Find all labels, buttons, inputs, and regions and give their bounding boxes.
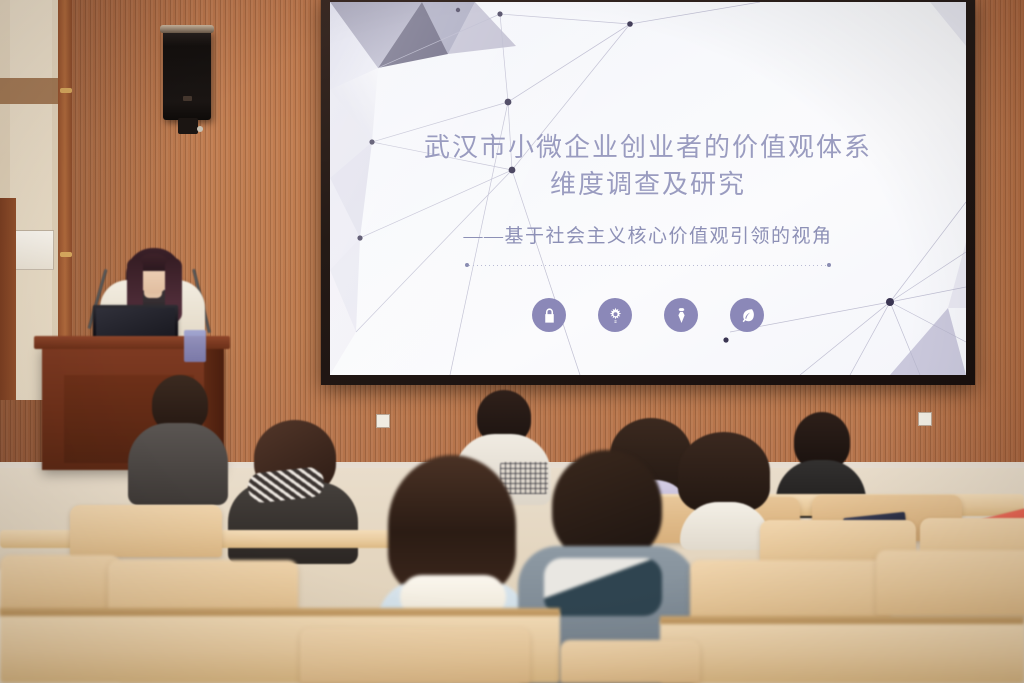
speaker-top-cap <box>160 25 214 33</box>
door-handle-lower[interactable] <box>60 252 72 257</box>
seat-front-6 <box>560 640 700 683</box>
door-panel <box>0 198 16 400</box>
divider-dot-right <box>827 263 831 267</box>
seat-front-4 <box>876 550 1024 616</box>
seat-middle-1 <box>70 505 222 557</box>
lock-badge-icon <box>532 298 566 332</box>
wall-panel-band <box>0 78 62 104</box>
divider-line <box>469 265 827 266</box>
desk-row-front-right <box>660 620 1024 683</box>
wall-outlet-left <box>376 414 390 428</box>
audience-1-body <box>128 423 228 505</box>
audience-4-scarf <box>544 558 662 616</box>
wall-outlet-right <box>918 412 932 426</box>
seat-front-5 <box>300 628 530 683</box>
slide-subtitle: ——基于社会主义核心价值观引领的视角 <box>330 221 966 248</box>
desk-edge-front-right <box>660 616 1024 624</box>
speaker-mount-screw <box>197 126 203 132</box>
necktie-icon <box>664 298 698 332</box>
slide-title-line-2: 维度调查及研究 <box>330 167 966 204</box>
slide-title-line-1: 武汉市小微企业创业者的价值观体系 <box>330 130 966 167</box>
lecture-hall-photo: 武汉市小微企业创业者的价值观体系 维度调查及研究 ——基于社会主义核心价值观引领… <box>0 0 1024 683</box>
lightbulb-icon <box>598 298 632 332</box>
audience-person-1 <box>128 375 228 505</box>
door-handle-upper[interactable] <box>60 88 72 93</box>
projection-screen-bezel: 武汉市小微企业创业者的价值观体系 维度调查及研究 ——基于社会主义核心价值观引领… <box>321 0 975 385</box>
speaker-badge <box>183 96 192 101</box>
growth-leaf-icon <box>730 298 764 332</box>
slide-icon-row <box>330 298 966 332</box>
slide-divider <box>465 264 831 267</box>
slide-text-block: 武汉市小微企业创业者的价值观体系 维度调查及研究 ——基于社会主义核心价值观引领… <box>330 130 966 267</box>
audience-3-hair <box>388 455 516 595</box>
wall-speaker <box>163 30 211 120</box>
speaker-mount-bracket <box>178 118 198 134</box>
desk-edge-front-left <box>0 608 560 616</box>
seat-front-1 <box>0 555 120 615</box>
podium-blue-object <box>184 330 206 362</box>
presentation-slide: 武汉市小微企业创业者的价值观体系 维度调查及研究 ——基于社会主义核心价值观引领… <box>330 2 966 375</box>
